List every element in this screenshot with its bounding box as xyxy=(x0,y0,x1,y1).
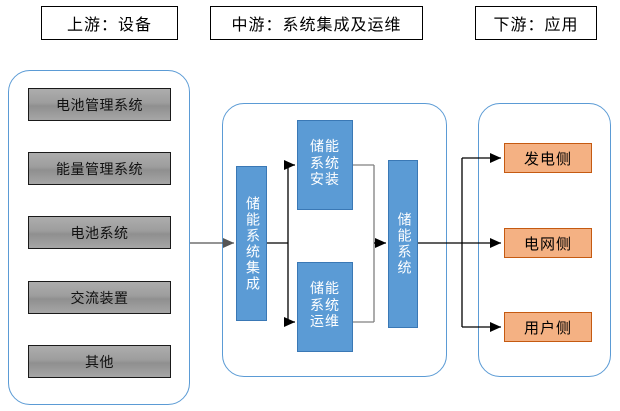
header-label-downstream: 下游：应用 xyxy=(493,11,578,35)
downstream-item-user[interactable]: 用户侧 xyxy=(504,312,592,342)
midstream-branch-om-box[interactable]: 储能系统运维 xyxy=(297,262,353,352)
upstream-item-5[interactable]: 其他 xyxy=(28,345,171,378)
upstream-item-3[interactable]: 电池系统 xyxy=(28,216,171,249)
midstream-integration-label: 储能系统集成 xyxy=(244,196,259,292)
upstream-item-2[interactable]: 能量管理系统 xyxy=(28,152,171,185)
upstream-item-2-label: 能量管理系统 xyxy=(56,159,143,179)
midstream-output-box[interactable]: 储能系统 xyxy=(388,160,418,328)
midstream-branch-install-box[interactable]: 储能系统安装 xyxy=(297,120,353,210)
header-label-upstream: 上游：设备 xyxy=(67,11,152,35)
header-box-downstream: 下游：应用 xyxy=(475,6,597,40)
downstream-item-user-label: 用户侧 xyxy=(524,317,572,338)
diagram-canvas: 上游：设备 中游：系统集成及运维 下游：应用 xyxy=(0,0,620,411)
header-box-upstream: 上游：设备 xyxy=(41,6,178,40)
downstream-item-generation[interactable]: 发电侧 xyxy=(504,143,592,173)
header-box-midstream: 中游：系统集成及运维 xyxy=(210,6,423,40)
upstream-item-1[interactable]: 电池管理系统 xyxy=(28,88,171,121)
upstream-item-5-label: 其他 xyxy=(85,352,114,372)
upstream-item-1-label: 电池管理系统 xyxy=(56,95,143,115)
downstream-item-grid-label: 电网侧 xyxy=(524,233,572,254)
downstream-item-generation-label: 发电侧 xyxy=(524,148,572,169)
downstream-item-grid[interactable]: 电网侧 xyxy=(504,228,592,258)
header-label-midstream: 中游：系统集成及运维 xyxy=(231,11,401,35)
midstream-integration-box[interactable]: 储能系统集成 xyxy=(236,166,267,321)
midstream-output-label: 储能系统 xyxy=(395,212,410,276)
upstream-item-3-label: 电池系统 xyxy=(71,223,129,243)
upstream-item-4-label: 交流装置 xyxy=(71,288,129,308)
midstream-branch-install-label: 储能系统安装 xyxy=(308,140,342,190)
upstream-item-4[interactable]: 交流装置 xyxy=(28,281,171,314)
midstream-branch-om-label: 储能系统运维 xyxy=(308,282,342,332)
